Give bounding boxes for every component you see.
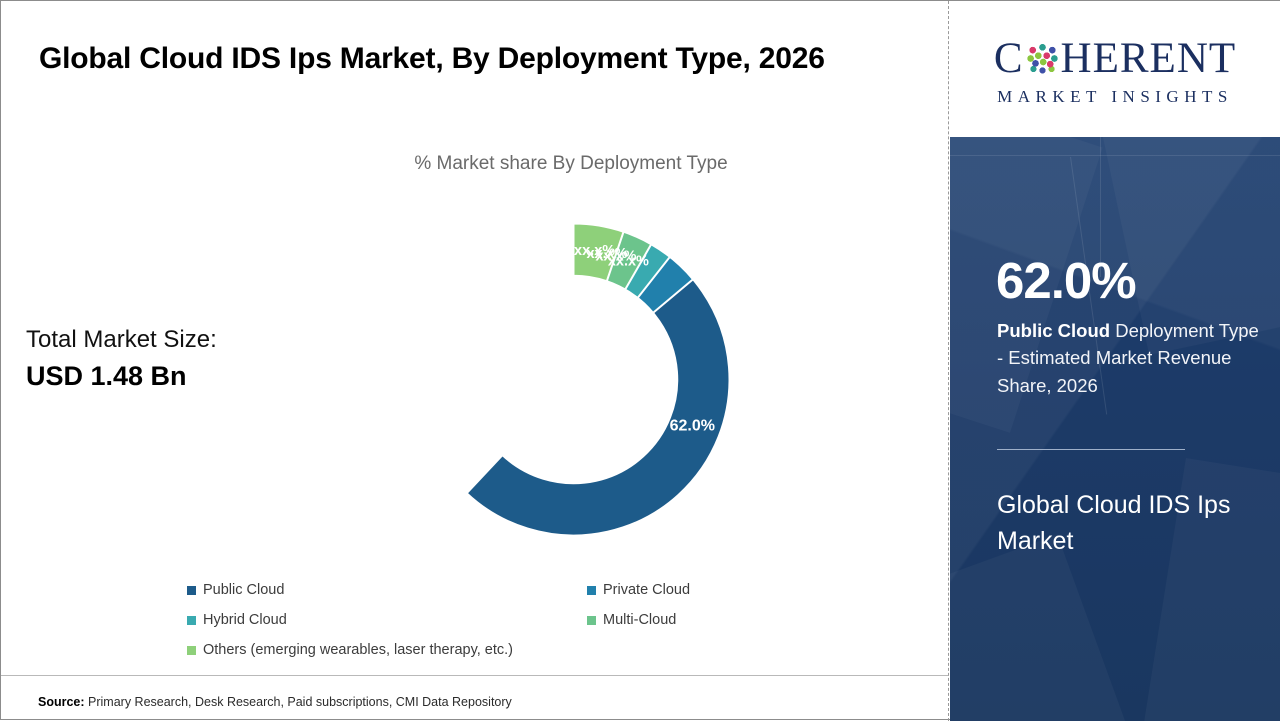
donut-slice-label: 62.0% [670, 418, 715, 435]
logo-subtitle: MARKET INSIGHTS [997, 88, 1233, 105]
stat-percent: 62.0% [996, 255, 1136, 306]
total-market-size-label: Total Market Size: [26, 323, 326, 357]
donut-chart: 62.0%xx.x%xx.x%xx.x%xx.x% [401, 207, 746, 552]
brand-logo: C HERENT MARKET INSIGHTS [950, 1, 1280, 137]
chart-subtitle: % Market share By Deployment Type [301, 153, 841, 175]
texture-line [950, 155, 1280, 156]
infographic-canvas: Global Cloud IDS Ips Market, By Deployme… [0, 0, 1280, 720]
right-sidebar-pane: C HERENT MARKET INSIGHTS 62.0% Public Cl… [950, 1, 1280, 721]
legend-item-multi-cloud[interactable]: Multi-Cloud [587, 611, 887, 630]
source-line: Source: Primary Research, Desk Research,… [38, 695, 512, 709]
legend-label: Others (emerging wearables, laser therap… [203, 643, 513, 658]
legend-item-private-cloud[interactable]: Private Cloud [587, 581, 887, 600]
highlight-panel: 62.0% Public Cloud Deployment Type - Est… [950, 137, 1280, 721]
legend-swatch-icon [187, 646, 196, 655]
legend-row: Hybrid Cloud Multi-Cloud [187, 611, 887, 630]
left-content-pane: Global Cloud IDS Ips Market, By Deployme… [1, 1, 949, 721]
logo-letter-c: C [994, 37, 1024, 80]
legend-label: Hybrid Cloud [203, 613, 287, 628]
dotted-globe-icon [1025, 41, 1060, 76]
legend-item-hybrid-cloud[interactable]: Hybrid Cloud [187, 611, 587, 630]
panel-divider [997, 449, 1185, 450]
donut-slice-group [467, 224, 730, 536]
source-text: Primary Research, Desk Research, Paid su… [85, 695, 512, 709]
total-market-size-value: USD 1.48 Bn [26, 357, 326, 395]
legend-item-public-cloud[interactable]: Public Cloud [187, 581, 587, 600]
texture-shape [950, 535, 1132, 721]
legend-swatch-icon [587, 616, 596, 625]
legend-row: Others (emerging wearables, laser therap… [187, 641, 887, 660]
legend-label: Multi-Cloud [603, 613, 676, 628]
stat-description-strong: Public Cloud [997, 320, 1110, 341]
legend-swatch-icon [587, 586, 596, 595]
chart-legend: Public Cloud Private Cloud Hybrid Cloud … [187, 581, 887, 671]
legend-label: Private Cloud [603, 583, 690, 598]
logo-letters-herent: HERENT [1061, 37, 1237, 80]
source-divider [1, 675, 948, 676]
source-label: Source: [38, 695, 85, 709]
legend-swatch-icon [187, 616, 196, 625]
page-title: Global Cloud IDS Ips Market, By Deployme… [39, 33, 879, 85]
legend-item-others[interactable]: Others (emerging wearables, laser therap… [187, 641, 887, 660]
donut-slice-label: xx.x% [574, 243, 615, 259]
legend-swatch-icon [187, 586, 196, 595]
donut-chart-svg: 62.0%xx.x%xx.x%xx.x%xx.x% [401, 207, 746, 552]
panel-market-name: Global Cloud IDS Ips Market [997, 488, 1252, 559]
stat-description: Public Cloud Deployment Type - Estimated… [997, 317, 1259, 399]
legend-label: Public Cloud [203, 583, 284, 598]
vertical-dashed-separator [948, 1, 949, 721]
logo-wordmark: C HERENT [994, 34, 1236, 84]
total-market-size-block: Total Market Size: USD 1.48 Bn [26, 323, 326, 395]
legend-row: Public Cloud Private Cloud [187, 581, 887, 600]
